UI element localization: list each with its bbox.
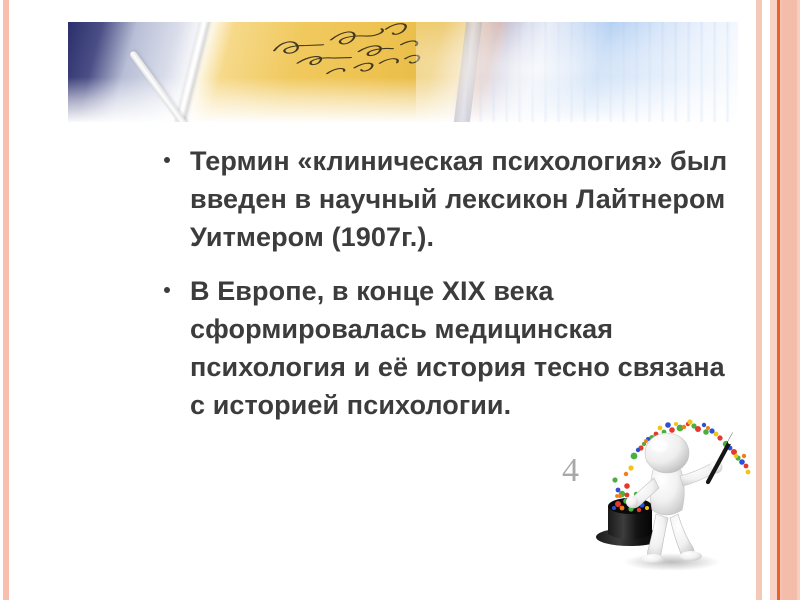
body-text-block: Термин «клиническая психология» был введ… [158,142,728,440]
bullet-dot-icon [164,287,170,293]
bullet-text: Термин «клиническая психология» был введ… [190,146,727,252]
banner-glow [416,22,738,122]
slide: Термин «клиническая психология» был введ… [0,0,800,600]
bullet-dot-icon [164,157,170,163]
right-bar-accent-line [777,0,780,600]
magician-clipart [560,398,760,570]
header-banner-image [68,22,738,122]
left-border-bar [3,0,9,600]
bullet-item: Термин «клиническая психология» был введ… [158,142,728,256]
